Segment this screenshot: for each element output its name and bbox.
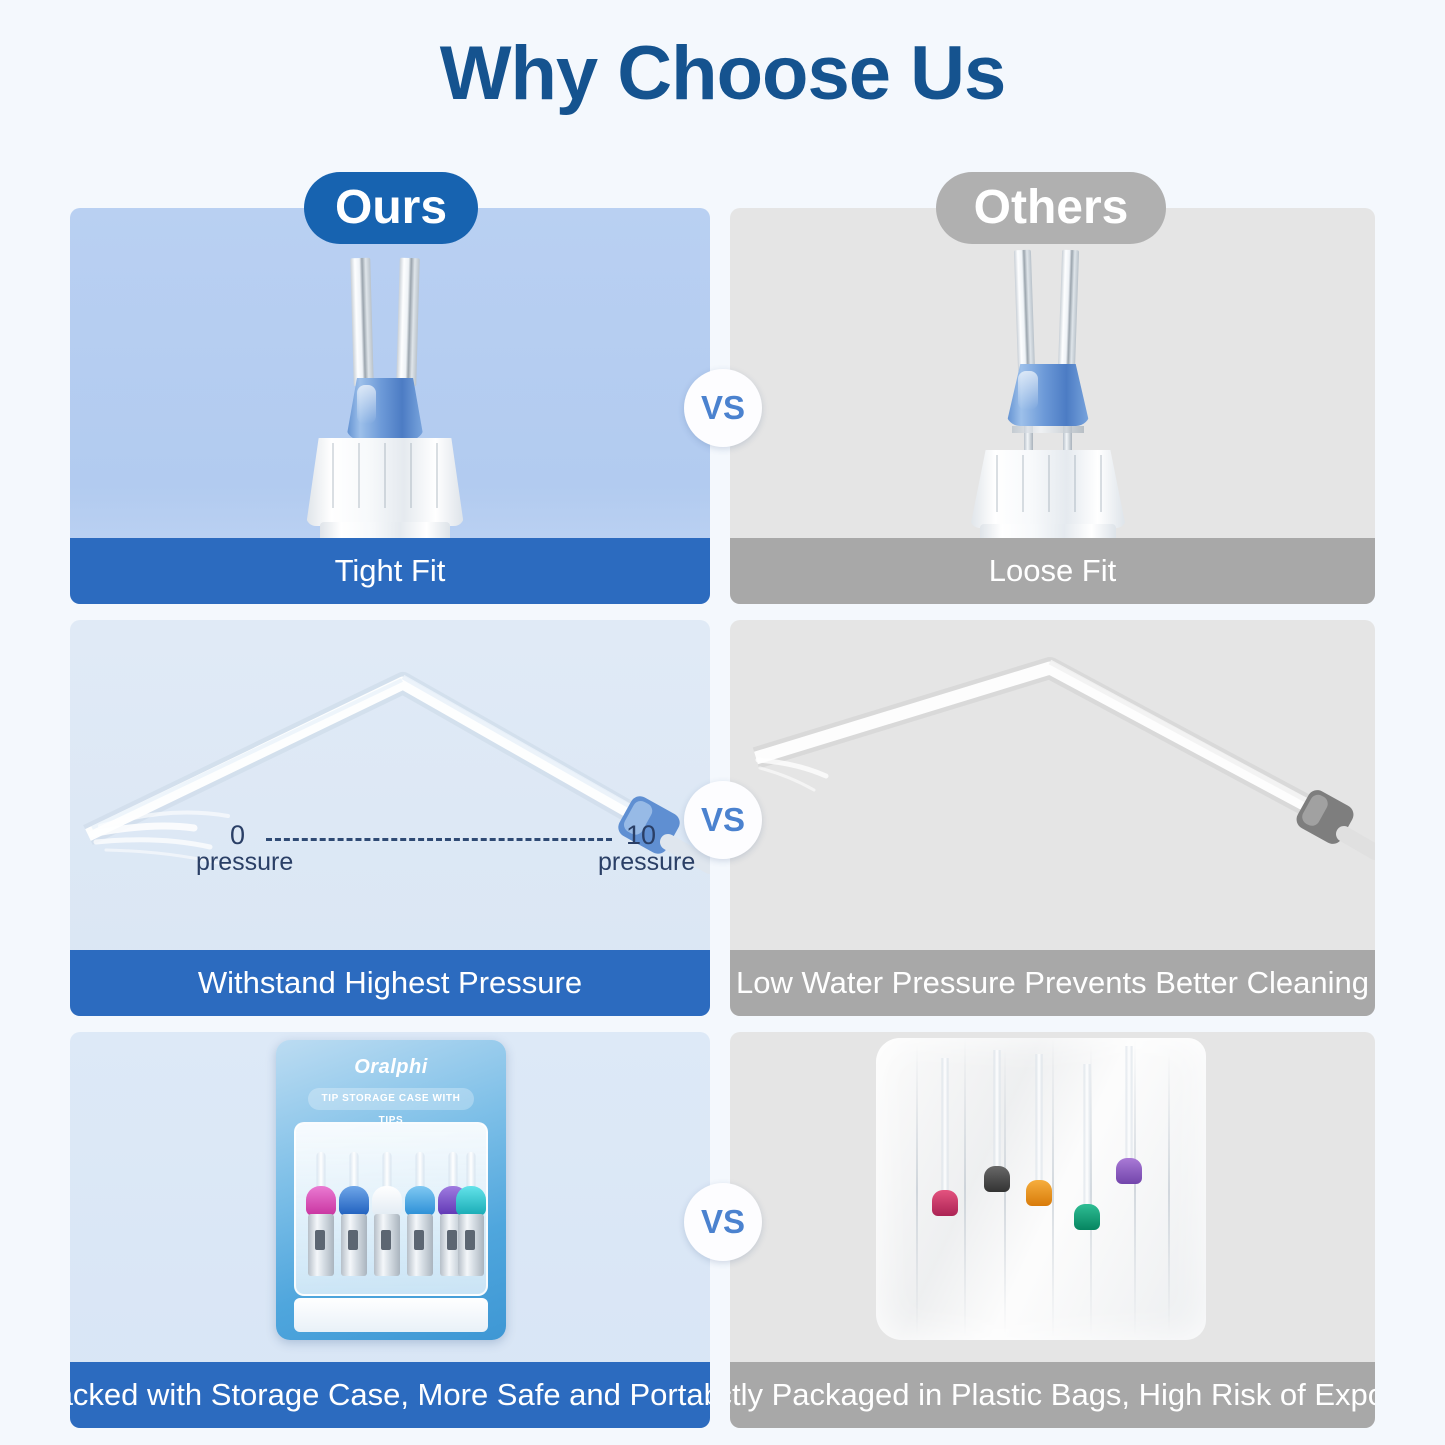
nozzle-base bbox=[306, 438, 464, 526]
tip-stem bbox=[942, 1058, 949, 1198]
panel-ours-pressure: 0 pressure 10 pressure Withstand Highest… bbox=[70, 620, 710, 1016]
infographic-root: Why Choose Us Ours Others bbox=[0, 0, 1445, 1445]
caption-ours-packaging: Packed with Storage Case, More Safe and … bbox=[70, 1362, 710, 1428]
caption-others-packaging: Directly Packaged in Plastic Bags, High … bbox=[730, 1362, 1375, 1428]
bagged-tip bbox=[1114, 1046, 1144, 1236]
nozzle-tight bbox=[294, 258, 489, 543]
scale-right-value: 10 bbox=[626, 820, 656, 851]
tip-slot bbox=[306, 1152, 336, 1282]
tip-slot bbox=[372, 1152, 402, 1282]
nozzle-shaft-left bbox=[350, 258, 374, 387]
tip-slot bbox=[456, 1152, 486, 1282]
package-brand: Oralphi bbox=[276, 1056, 506, 1079]
scale-left-value: 0 bbox=[230, 820, 245, 851]
package-subtitle: TIP STORAGE CASE WITH TIPS bbox=[308, 1088, 474, 1110]
base-rib bbox=[332, 443, 334, 508]
tip-metal bbox=[407, 1214, 433, 1276]
tip-cap bbox=[1074, 1204, 1100, 1230]
nozzle-collar bbox=[1006, 364, 1090, 426]
collar-highlight bbox=[357, 385, 376, 423]
panel-others-packaging: Directly Packaged in Plastic Bags, High … bbox=[730, 1032, 1375, 1428]
storage-case-package: Oralphi TIP STORAGE CASE WITH TIPS bbox=[276, 1040, 506, 1340]
tip-cap bbox=[405, 1186, 435, 1216]
vs-badge-pressure: VS bbox=[684, 781, 762, 859]
panel-others-fit: Loose Fit bbox=[730, 208, 1375, 604]
base-rib bbox=[384, 443, 386, 508]
nozzle-base bbox=[970, 450, 1126, 528]
panel-others-pressure: Low Water Pressure Prevents Better Clean… bbox=[730, 620, 1375, 1016]
base-rib bbox=[410, 443, 412, 508]
tip-stem bbox=[1126, 1046, 1133, 1166]
badge-ours: Ours bbox=[304, 172, 478, 244]
caption-ours-pressure: Withstand Highest Pressure bbox=[70, 950, 710, 1016]
scale-dashed-line bbox=[266, 838, 612, 841]
nozzle-shaft-left bbox=[1014, 250, 1035, 373]
plastic-bag bbox=[876, 1038, 1206, 1340]
bag-crease bbox=[916, 1044, 918, 1336]
waterjet-others-svg bbox=[730, 620, 1375, 950]
tip-stem bbox=[1036, 1054, 1043, 1188]
caption-others-fit: Loose Fit bbox=[730, 538, 1375, 604]
bagged-tip bbox=[930, 1058, 960, 1248]
tip-cap bbox=[984, 1166, 1010, 1192]
nozzle-collar bbox=[346, 378, 424, 440]
tip-cap bbox=[456, 1186, 486, 1216]
page-title: Why Choose Us bbox=[0, 30, 1445, 117]
bagged-tip bbox=[1024, 1054, 1054, 1244]
vs-badge-fit: VS bbox=[684, 369, 762, 447]
tip-cap bbox=[339, 1186, 369, 1216]
tip-slot bbox=[405, 1152, 435, 1282]
panel-ours-packaging: Oralphi TIP STORAGE CASE WITH TIPS bbox=[70, 1032, 710, 1428]
tip-slot bbox=[339, 1152, 369, 1282]
base-rib bbox=[1074, 455, 1076, 513]
bagged-tip bbox=[1072, 1064, 1102, 1254]
nozzle-loose bbox=[956, 250, 1151, 550]
nozzle-shaft-right bbox=[396, 258, 420, 387]
tip-metal bbox=[458, 1214, 484, 1276]
caption-ours-fit: Tight Fit bbox=[70, 538, 710, 604]
badge-others: Others bbox=[936, 172, 1166, 244]
tip-metal bbox=[374, 1214, 400, 1276]
storage-case-base bbox=[294, 1298, 488, 1332]
tip-stem bbox=[1084, 1064, 1091, 1212]
scale-left-label: pressure bbox=[196, 848, 293, 877]
base-rib bbox=[1022, 455, 1024, 513]
base-rib bbox=[358, 443, 360, 508]
tip-metal bbox=[341, 1214, 367, 1276]
bag-crease bbox=[964, 1038, 966, 1336]
tip-cap bbox=[1026, 1180, 1052, 1206]
tip-stem bbox=[994, 1050, 1001, 1174]
panel-ours-fit: Tight Fit bbox=[70, 208, 710, 604]
base-rib bbox=[1100, 455, 1102, 513]
scale-right-label: pressure bbox=[598, 848, 695, 877]
nozzle-shaft-right bbox=[1058, 250, 1079, 373]
bag-crease bbox=[1168, 1052, 1170, 1332]
collar-highlight bbox=[1018, 371, 1038, 409]
tip-cap bbox=[932, 1190, 958, 1216]
tip-cap bbox=[372, 1186, 402, 1216]
pressure-scale: 0 pressure 10 pressure bbox=[168, 820, 688, 880]
bagged-tip bbox=[982, 1050, 1012, 1240]
tip-cap bbox=[1116, 1158, 1142, 1184]
waterjet-ours-svg bbox=[70, 620, 710, 950]
base-rib bbox=[436, 443, 438, 508]
base-rib bbox=[996, 455, 998, 513]
base-rib bbox=[1048, 455, 1050, 513]
vs-badge-packaging: VS bbox=[684, 1183, 762, 1261]
tip-metal bbox=[308, 1214, 334, 1276]
caption-others-pressure: Low Water Pressure Prevents Better Clean… bbox=[730, 950, 1375, 1016]
tip-cap bbox=[306, 1186, 336, 1216]
nozzle-gap-flange bbox=[1012, 426, 1084, 433]
storage-tray bbox=[294, 1122, 488, 1296]
